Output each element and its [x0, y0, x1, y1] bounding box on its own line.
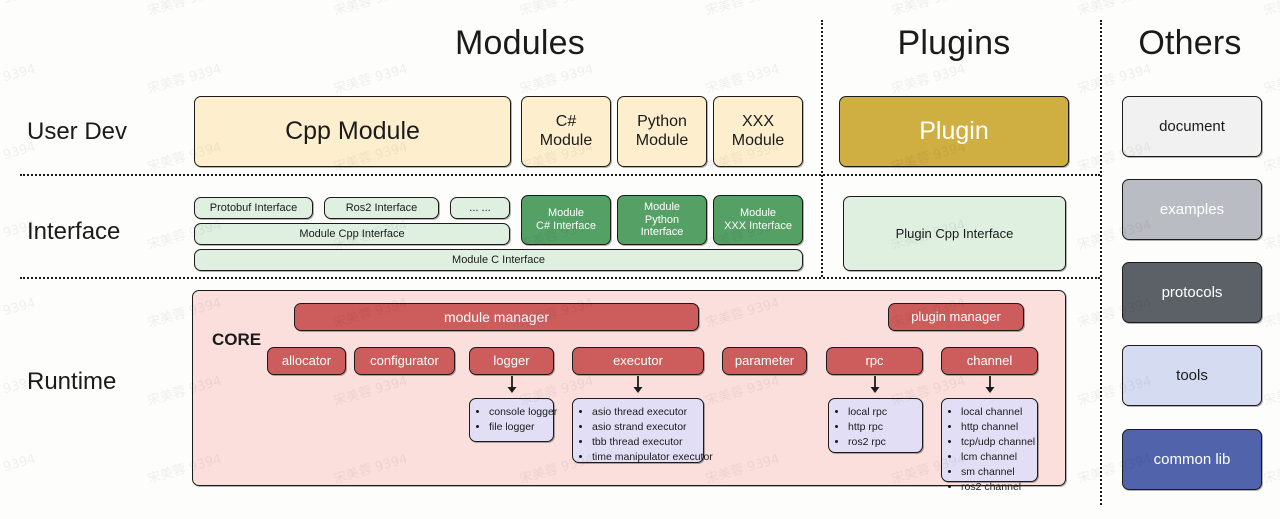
interface-box-ellipsis[interactable]: ... ...	[450, 197, 510, 219]
watermark-text: 宋美蓉 9394	[889, 0, 968, 19]
watermark-text: 宋美蓉 9394	[0, 448, 37, 487]
interface-box-module-csharp[interactable]: Module C# Interface	[521, 195, 611, 245]
interface-box-module-xxx-label: Module XXX Interface	[720, 207, 796, 233]
sublist-item: http rpc	[848, 420, 915, 435]
watermark-text: 宋美蓉 9394	[145, 0, 224, 19]
sublist-item: lcm channel	[961, 450, 1030, 465]
divider-interface-runtime	[20, 277, 1100, 279]
core-sublist-logger-items: console loggerfile logger	[476, 405, 546, 435]
sublist-item: file logger	[489, 420, 546, 435]
sublist-item: tcp/udp channel	[961, 435, 1030, 450]
watermark-text: 宋美蓉 9394	[1261, 370, 1280, 409]
core-box-parameter-label: parameter	[731, 353, 798, 368]
core-box-allocator[interactable]: allocator	[267, 347, 346, 375]
interface-box-module-xxx[interactable]: Module XXX Interface	[713, 195, 803, 245]
column-header-others: Others	[1110, 24, 1270, 63]
core-box-rpc[interactable]: rpc	[826, 347, 923, 375]
divider-plugins-others	[1100, 20, 1102, 505]
core-box-executor-label: executor	[609, 353, 667, 368]
arrow-channel-down	[982, 376, 998, 396]
interface-box-module-cpp[interactable]: Module Cpp Interface	[194, 223, 510, 245]
column-header-plugins: Plugins	[834, 24, 1074, 63]
core-sublist-executor-items: asio thread executorasio strand executor…	[579, 405, 696, 465]
sublist-item: local rpc	[848, 405, 915, 420]
plugin-box-label: Plugin	[915, 117, 993, 147]
core-box-plugin-manager[interactable]: plugin manager	[888, 303, 1024, 331]
others-box-examples[interactable]: examples	[1122, 179, 1262, 240]
arrow-logger-down	[504, 376, 520, 396]
core-box-channel[interactable]: channel	[941, 347, 1038, 375]
watermark-text: 宋美蓉 9394	[0, 292, 37, 331]
module-box-cpp-label: Cpp Module	[281, 117, 424, 147]
core-box-configurator[interactable]: configurator	[354, 347, 455, 375]
sublist-item: asio strand executor	[592, 420, 696, 435]
core-box-rpc-label: rpc	[861, 353, 887, 368]
module-box-csharp[interactable]: C# Module	[521, 96, 611, 167]
interface-box-plugin-cpp[interactable]: Plugin Cpp Interface	[843, 196, 1066, 271]
watermark-text: 宋美蓉 9394	[1075, 0, 1154, 19]
sublist-item: time manipulator executor	[592, 450, 696, 465]
module-box-python[interactable]: Python Module	[617, 96, 707, 167]
core-sublist-executor: asio thread executorasio strand executor…	[572, 398, 704, 463]
watermark-text: 宋美蓉 9394	[517, 58, 596, 97]
watermark-text: 宋美蓉 9394	[331, 58, 410, 97]
watermark-text: 宋美蓉 9394	[1261, 136, 1280, 175]
interface-box-plugin-cpp-label: Plugin Cpp Interface	[892, 226, 1018, 241]
core-box-executor[interactable]: executor	[572, 347, 704, 375]
watermark-text: 宋美蓉 9394	[0, 58, 37, 97]
others-box-document[interactable]: document	[1122, 96, 1262, 157]
core-box-configurator-label: configurator	[366, 353, 443, 368]
core-sublist-rpc-items: local rpchttp rpcros2 rpc	[835, 405, 915, 450]
others-box-examples-label: examples	[1156, 201, 1228, 219]
interface-box-ros2[interactable]: Ros2 Interface	[324, 197, 439, 219]
interface-box-module-python[interactable]: Module Python Interface	[617, 195, 707, 245]
others-box-common-lib-label: common lib	[1150, 451, 1235, 469]
watermark-text: 宋美蓉 9394	[1261, 292, 1280, 331]
core-box-allocator-label: allocator	[278, 353, 335, 368]
sublist-item: console logger	[489, 405, 546, 420]
watermark-text: 宋美蓉 9394	[1261, 58, 1280, 97]
watermark-text: 宋美蓉 9394	[145, 58, 224, 97]
watermark-text: 宋美蓉 9394	[1261, 448, 1280, 487]
arrow-executor-down	[630, 376, 646, 396]
core-sublist-logger: console loggerfile logger	[469, 398, 554, 442]
core-box-module-manager-label: module manager	[440, 309, 553, 326]
others-box-document-label: document	[1155, 118, 1229, 136]
sublist-item: ros2 rpc	[848, 435, 915, 450]
watermark-text: 宋美蓉 9394	[1075, 58, 1154, 97]
arrow-rpc-down	[867, 376, 883, 396]
sublist-item: local channel	[961, 405, 1030, 420]
core-box-logger-label: logger	[489, 353, 533, 368]
others-box-protocols[interactable]: protocols	[1122, 262, 1262, 323]
sublist-item: tbb thread executor	[592, 435, 696, 450]
watermark-text: 宋美蓉 9394	[331, 0, 410, 19]
interface-box-module-c-label: Module C Interface	[448, 254, 549, 267]
divider-userdev-interface	[20, 174, 1100, 176]
sublist-item: sm channel	[961, 465, 1030, 480]
sublist-item: asio thread executor	[592, 405, 696, 420]
others-box-protocols-label: protocols	[1158, 284, 1227, 302]
sublist-item: ros2 channel	[961, 480, 1030, 495]
module-box-python-label: Python Module	[632, 113, 692, 151]
divider-modules-plugins	[821, 20, 823, 277]
interface-box-module-python-label: Module Python Interface	[618, 201, 706, 240]
others-box-tools-label: tools	[1172, 367, 1212, 385]
core-box-parameter[interactable]: parameter	[722, 347, 807, 375]
core-box-plugin-manager-label: plugin manager	[907, 309, 1005, 324]
watermark-text: 宋美蓉 9394	[0, 0, 37, 19]
core-sublist-channel: local channelhttp channeltcp/udp channel…	[941, 398, 1038, 482]
watermark-text: 宋美蓉 9394	[1261, 214, 1280, 253]
module-box-xxx[interactable]: XXX Module	[713, 96, 803, 167]
watermark-text: 宋美蓉 9394	[703, 58, 782, 97]
architecture-diagram: 宋美蓉 9394宋美蓉 9394宋美蓉 9394宋美蓉 9394宋美蓉 9394…	[0, 0, 1280, 519]
interface-box-protobuf-label: Protobuf Interface	[206, 202, 301, 215]
interface-box-module-cpp-label: Module Cpp Interface	[295, 228, 408, 241]
core-box-logger[interactable]: logger	[469, 347, 554, 375]
interface-box-module-csharp-label: Module C# Interface	[532, 207, 600, 233]
interface-box-module-c[interactable]: Module C Interface	[194, 249, 803, 271]
others-box-tools[interactable]: tools	[1122, 345, 1262, 406]
core-sublist-channel-items: local channelhttp channeltcp/udp channel…	[948, 405, 1030, 494]
interface-box-protobuf[interactable]: Protobuf Interface	[194, 197, 313, 219]
module-box-cpp[interactable]: Cpp Module	[194, 96, 511, 167]
watermark-text: 宋美蓉 9394	[1261, 0, 1280, 19]
module-box-xxx-label: XXX Module	[728, 113, 788, 151]
others-box-common-lib[interactable]: common lib	[1122, 429, 1262, 490]
core-title: CORE	[212, 330, 261, 350]
interface-box-ros2-label: Ros2 Interface	[342, 202, 422, 215]
core-box-module-manager[interactable]: module manager	[294, 303, 699, 331]
row-label-interface: Interface	[27, 218, 120, 246]
module-box-csharp-label: C# Module	[536, 113, 596, 151]
plugin-box[interactable]: Plugin	[839, 96, 1069, 167]
column-header-modules: Modules	[300, 24, 740, 63]
sublist-item: http channel	[961, 420, 1030, 435]
watermark-text: 宋美蓉 9394	[889, 58, 968, 97]
interface-box-ellipsis-label: ... ...	[465, 202, 494, 215]
watermark-text: 宋美蓉 9394	[517, 0, 596, 19]
row-label-runtime: Runtime	[27, 368, 116, 396]
core-sublist-rpc: local rpchttp rpcros2 rpc	[828, 398, 923, 453]
row-label-user-dev: User Dev	[27, 118, 127, 146]
watermark-text: 宋美蓉 9394	[703, 0, 782, 19]
core-box-channel-label: channel	[963, 353, 1017, 368]
